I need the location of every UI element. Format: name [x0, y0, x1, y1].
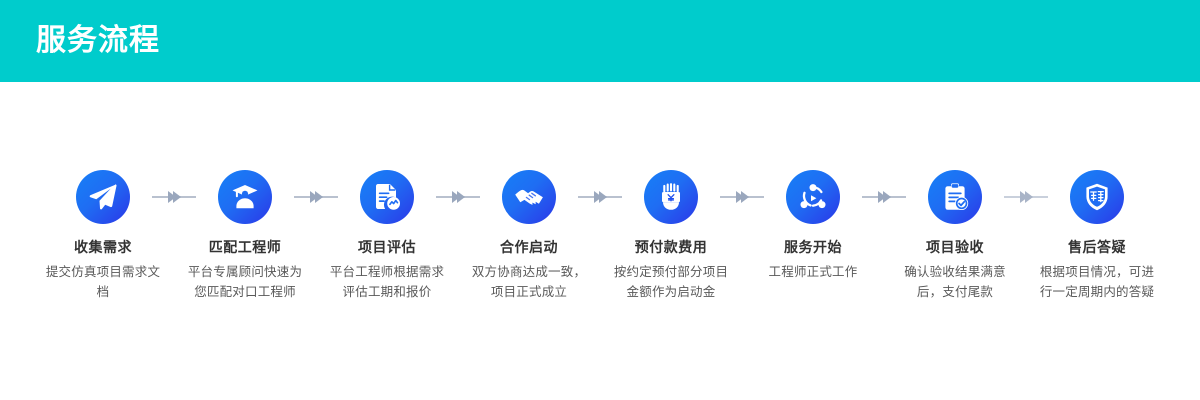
step-icon-circle-2 [218, 170, 272, 224]
step-icon-circle-8 [1070, 170, 1124, 224]
paper-plane-icon [87, 181, 119, 213]
step-desc-4: 双方协商达成一致，项目正式成立 [470, 262, 588, 302]
header-band: 服务流程 [0, 0, 1200, 82]
step-title-7: 项目验收 [926, 238, 984, 256]
flow-step-8[interactable]: 售后答疑 根据项目情况，可进行一定周期内的答疑 [1042, 170, 1152, 302]
flow-arrow-6 [868, 170, 900, 224]
shield-review-icon [1081, 181, 1113, 213]
step-desc-3: 平台工程师根据需求评估工期和报价 [328, 262, 446, 302]
step-icon-circle-7 [928, 170, 982, 224]
service-process-page: 服务流程 收集需求 提交仿真项目需求文档 [0, 0, 1200, 400]
step-desc-1: 提交仿真项目需求文档 [44, 262, 162, 302]
double-chevron-right-icon [166, 191, 182, 203]
collaboration-network-play-icon [797, 181, 829, 213]
step-title-8: 售后答疑 [1068, 238, 1126, 256]
flow-arrow-7 [1010, 170, 1042, 224]
step-desc-7: 确认验收结果满意后，支付尾款 [896, 262, 1014, 302]
process-flow: 收集需求 提交仿真项目需求文档 匹配工程师 平台专属顾问快速为您匹配对口工程师 [0, 170, 1200, 330]
step-desc-5: 按约定预付部分项目金额作为启动金 [612, 262, 730, 302]
step-desc-8: 根据项目情况，可进行一定周期内的答疑 [1038, 262, 1156, 302]
step-title-2: 匹配工程师 [209, 238, 282, 256]
graduate-engineer-icon [229, 181, 261, 213]
step-icon-circle-5 [644, 170, 698, 224]
flow-step-2[interactable]: 匹配工程师 平台专属顾问快速为您匹配对口工程师 [190, 170, 300, 302]
double-chevron-right-icon [592, 191, 608, 203]
step-desc-6: 工程师正式工作 [754, 262, 872, 282]
double-chevron-right-icon [1018, 191, 1034, 203]
flow-step-1[interactable]: 收集需求 提交仿真项目需求文档 [48, 170, 158, 302]
step-title-3: 项目评估 [358, 238, 416, 256]
step-icon-circle-1 [76, 170, 130, 224]
flow-step-7[interactable]: 项目验收 确认验收结果满意后，支付尾款 [900, 170, 1010, 302]
flow-step-5[interactable]: 预付款费用 按约定预付部分项目金额作为启动金 [616, 170, 726, 302]
flow-arrow-1 [158, 170, 190, 224]
flow-arrow-5 [726, 170, 758, 224]
flow-step-6[interactable]: 服务开始 工程师正式工作 [758, 170, 868, 282]
step-title-4: 合作启动 [500, 238, 558, 256]
flow-arrow-2 [300, 170, 332, 224]
clipboard-check-icon [939, 181, 971, 213]
flow-arrow-3 [442, 170, 474, 224]
flow-step-3[interactable]: 项目评估 平台工程师根据需求评估工期和报价 [332, 170, 442, 302]
step-icon-circle-4 [502, 170, 556, 224]
double-chevron-right-icon [734, 191, 750, 203]
page-title: 服务流程 [36, 21, 160, 61]
flow-arrow-4 [584, 170, 616, 224]
step-title-6: 服务开始 [784, 238, 842, 256]
step-title-1: 收集需求 [74, 238, 132, 256]
double-chevron-right-icon [308, 191, 324, 203]
step-title-5: 预付款费用 [635, 238, 708, 256]
document-review-icon [371, 181, 403, 213]
step-icon-circle-6 [786, 170, 840, 224]
double-chevron-right-icon [876, 191, 892, 203]
handshake-icon [513, 181, 545, 213]
flow-step-4[interactable]: 合作启动 双方协商达成一致，项目正式成立 [474, 170, 584, 302]
hand-money-yuan-icon [655, 181, 687, 213]
step-desc-2: 平台专属顾问快速为您匹配对口工程师 [186, 262, 304, 302]
double-chevron-right-icon [450, 191, 466, 203]
step-icon-circle-3 [360, 170, 414, 224]
